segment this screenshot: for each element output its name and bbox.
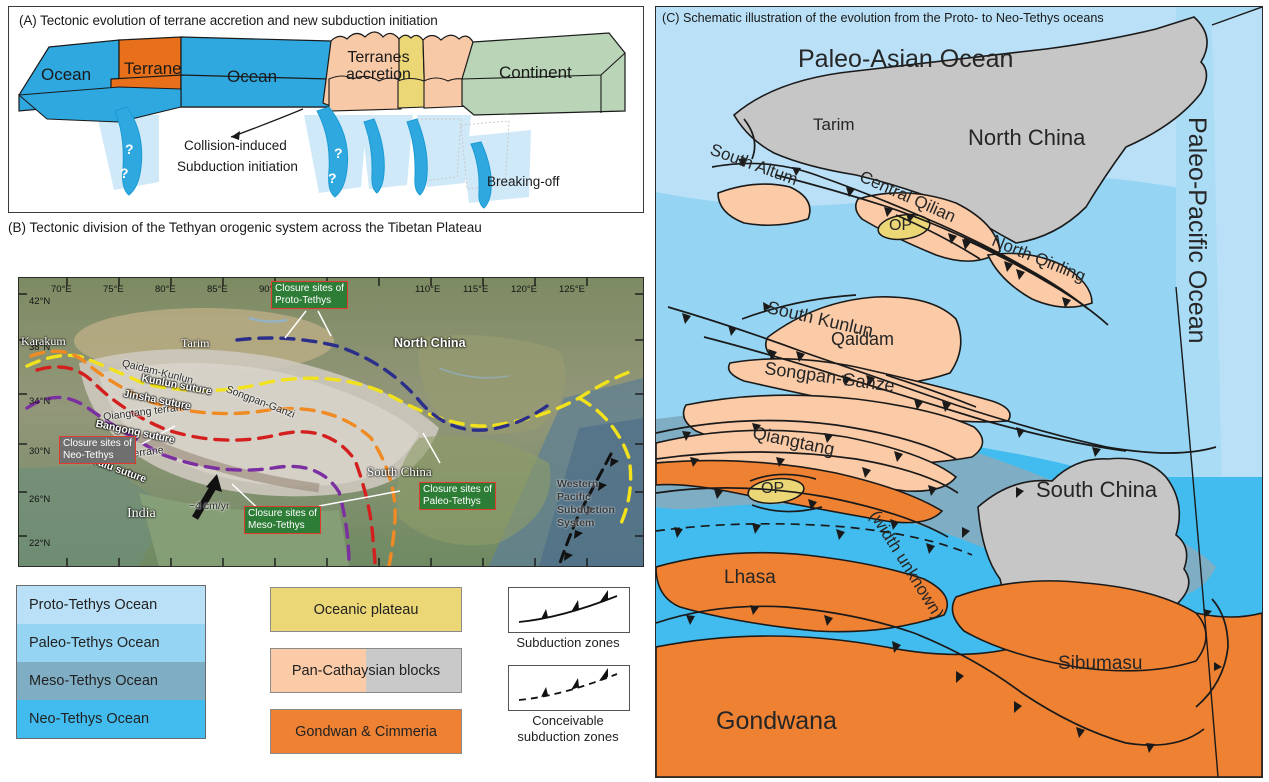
panel-a-tectonic-evolution: (A) Tectonic evolution of terrane accret… <box>8 6 644 213</box>
lat-tick-30n: 30°N <box>29 446 50 457</box>
slab-sheets <box>97 115 531 203</box>
lat-tick-42n: 42°N <box>29 296 50 307</box>
collision-induced-line2: Subduction initiation <box>177 159 298 174</box>
lon-tick-85e: 85°E <box>207 284 228 295</box>
legend-neo-tethys-ocean: Neo-Tethys Ocean <box>17 700 205 738</box>
wps-line-4: System <box>557 517 615 530</box>
india-rate-label: ~4 cm/yr <box>189 500 230 512</box>
callout-proto-line2: Proto-Tethys <box>275 295 344 307</box>
legend-ocean-color-box: Proto-Tethys Ocean Paleo-Tethys Ocean Me… <box>16 585 206 739</box>
legend-pan-cathaysian-blocks: Pan-Cathaysian blocks <box>270 648 462 693</box>
lat-tick-26n: 26°N <box>29 494 50 505</box>
legend-meso-tethys-label: Meso-Tethys Ocean <box>29 673 158 689</box>
callout-meso-tethys[interactable]: Closure sites of Meso-Tethys <box>244 506 321 534</box>
western-pacific-subduction-system-label: Western Pacific Subduction System <box>557 478 615 530</box>
panel-c-title: (C) Schematic illustration of the evolut… <box>662 11 1104 25</box>
wps-line-2: Pacific <box>557 491 615 504</box>
craton-label-tarim: Tarim <box>813 115 855 135</box>
lon-tick-70e: 70°E <box>51 284 72 295</box>
callout-neo-line2: Neo-Tethys <box>63 450 132 462</box>
terranes-accretion-line2: accretion <box>346 66 411 83</box>
lon-tick-75e: 75°E <box>103 284 124 295</box>
terrane-label-lhasa: Lhasa <box>724 567 776 589</box>
question-mark-1: ? <box>125 141 134 157</box>
legend-paleo-tethys-ocean: Paleo-Tethys Ocean <box>17 624 205 662</box>
lon-tick-115e: 115°E <box>463 284 488 295</box>
region-label-tarim: Tarim <box>181 336 209 351</box>
callout-neo-line1: Closure sites of <box>63 438 132 450</box>
panel-b-title: (B) Tectonic division of the Tethyan oro… <box>8 220 482 235</box>
breaking-off-label: Breaking-off <box>487 174 560 189</box>
region-label-india: India <box>127 506 156 522</box>
lat-tick-34n: 34°N <box>29 396 50 407</box>
legend-subduction-zones-caption: Subduction zones <box>498 635 638 651</box>
question-mark-4: ? <box>328 170 337 186</box>
legend-conceivable-subduction-zone-symbol <box>508 665 630 711</box>
legend-neo-tethys-label: Neo-Tethys Ocean <box>29 711 149 727</box>
legend-oceanic-plateau-label: Oceanic plateau <box>314 602 419 618</box>
panel-a-label-continent: Continent <box>499 63 572 83</box>
panel-a-label-terrane: Terrane <box>124 59 182 79</box>
terrane-label-sibumasu: Sibumasu <box>1058 653 1143 675</box>
legend-paleo-tethys-label: Paleo-Tethys Ocean <box>29 635 160 651</box>
legend-oceanic-plateau: Oceanic plateau <box>270 587 462 632</box>
wps-line-3: Subduction <box>557 504 615 517</box>
lon-tick-80e: 80°E <box>155 284 176 295</box>
lon-tick-125e: 125°E <box>559 284 585 295</box>
callout-paleo-line2: Paleo-Tethys <box>423 496 492 508</box>
oceanic-plateau-label-2: OP <box>761 480 784 498</box>
region-label-karakum: Karakum <box>21 334 66 349</box>
legend-conceivable-line1: Conceivable <box>498 713 638 729</box>
legend-conceivable-line2: subduction zones <box>498 729 638 745</box>
legend-subduction-zone-symbol <box>508 587 630 633</box>
oceanic-plateau-label-1: OP <box>889 217 912 235</box>
callout-proto-line1: Closure sites of <box>275 283 344 295</box>
callout-paleo-tethys[interactable]: Closure sites of Paleo-Tethys <box>419 482 496 510</box>
callout-meso-line1: Closure sites of <box>248 508 317 520</box>
collision-arrow <box>231 109 303 140</box>
callout-proto-tethys[interactable]: Closure sites of Proto-Tethys <box>271 281 348 309</box>
ocean-label-paleo-pacific: Paleo-Pacific Ocean <box>1182 117 1211 344</box>
craton-label-south-china: South China <box>1036 477 1157 503</box>
legend-proto-tethys-label: Proto-Tethys Ocean <box>29 597 157 613</box>
collision-induced-line1: Collision-induced <box>184 138 287 153</box>
wps-line-1: Western <box>557 478 615 491</box>
region-label-south-china: South China <box>367 464 432 480</box>
lat-tick-22n: 22°N <box>29 538 50 549</box>
panel-a-label-terranes-accretion: Terranes accretion <box>346 49 411 83</box>
panel-c-schematic-evolution: (C) Schematic illustration of the evolut… <box>655 6 1263 778</box>
legend-pan-cathaysian-label: Pan-Cathaysian blocks <box>292 663 440 679</box>
panel-a-label-ocean-mid: Ocean <box>227 67 277 87</box>
callout-paleo-line1: Closure sites of <box>423 484 492 496</box>
panel-b-tectonic-map: 70°E 75°E 80°E 85°E 90°E 110°E 115°E 120… <box>18 277 644 567</box>
terrane-label-gondwana: Gondwana <box>716 707 837 736</box>
ocean-label-paleo-asian: Paleo-Asian Ocean <box>798 45 1013 74</box>
lon-tick-110e: 110°E <box>415 284 440 295</box>
region-label-north-china: North China <box>394 336 466 350</box>
lon-tick-120e: 120°E <box>511 284 537 295</box>
callout-meso-line2: Meso-Tethys <box>248 520 317 532</box>
legend-gondwan-cimmeria: Gondwan & Cimmeria <box>270 709 462 754</box>
question-mark-3: ? <box>334 145 343 161</box>
panel-a-label-ocean-left: Ocean <box>41 65 91 85</box>
panel-c-diagram <box>656 7 1262 777</box>
legend-gondwan-label: Gondwan & Cimmeria <box>295 724 437 740</box>
figure-legend: Proto-Tethys Ocean Paleo-Tethys Ocean Me… <box>8 585 648 765</box>
legend-conceivable-zones-caption: Conceivable subduction zones <box>498 713 638 745</box>
terranes-accretion-line1: Terranes <box>346 49 411 66</box>
legend-proto-tethys-ocean: Proto-Tethys Ocean <box>17 586 205 624</box>
craton-label-north-china: North China <box>968 125 1085 151</box>
legend-meso-tethys-ocean: Meso-Tethys Ocean <box>17 662 205 700</box>
callout-neo-tethys[interactable]: Closure sites of Neo-Tethys <box>59 436 136 464</box>
question-mark-2: ? <box>120 165 129 181</box>
